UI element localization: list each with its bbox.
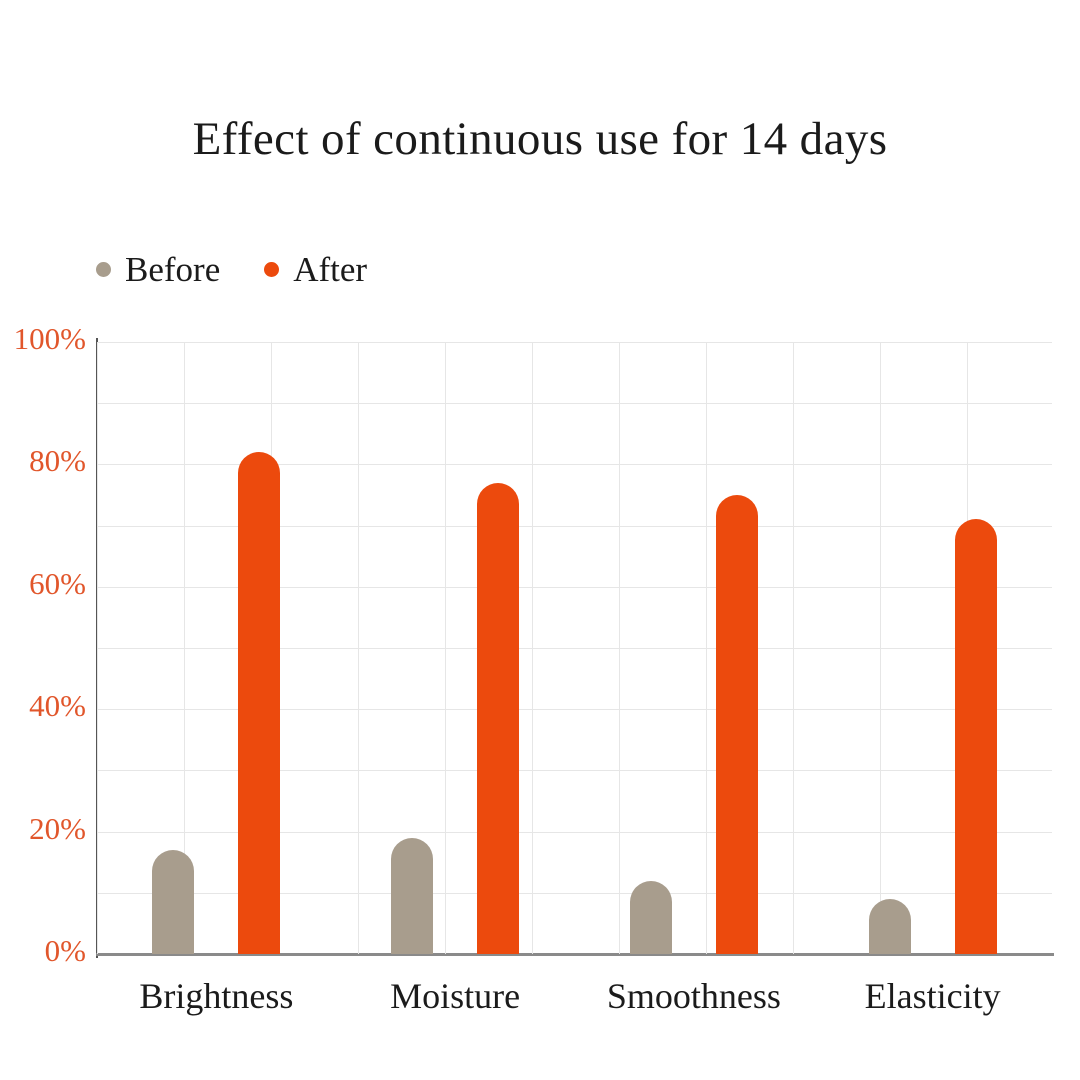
plot-area [97, 342, 1052, 954]
chart-title: Effect of continuous use for 14 days [0, 112, 1080, 166]
x-axis-tick-label-moisture: Moisture [390, 975, 520, 1017]
bar-before-smoothness[interactable] [630, 881, 672, 954]
y-axis-tick-label: 100% [0, 321, 86, 357]
gridline-vertical [358, 342, 359, 954]
legend-item-before[interactable]: Before [96, 252, 220, 287]
y-axis-tick-label: 80% [0, 443, 86, 479]
bar-after-moisture[interactable] [477, 483, 519, 954]
gridline-vertical [880, 342, 881, 954]
y-axis-tick-label: 40% [0, 688, 86, 724]
bar-after-elasticity[interactable] [955, 519, 997, 954]
chart-container: Effect of continuous use for 14 days Bef… [0, 0, 1080, 1080]
bar-before-moisture[interactable] [391, 838, 433, 954]
y-axis-tick-label: 0% [0, 933, 86, 969]
legend-item-after[interactable]: After [264, 252, 367, 287]
y-axis-tick-label: 60% [0, 566, 86, 602]
y-axis-tick-label: 20% [0, 811, 86, 847]
gridline-vertical [532, 342, 533, 954]
x-axis-tick-label-elasticity: Elasticity [865, 975, 1001, 1017]
gridline-horizontal [97, 403, 1052, 404]
x-axis-tick-labels: BrightnessMoistureSmoothnessElasticity [97, 975, 1052, 1045]
bar-after-smoothness[interactable] [716, 495, 758, 954]
gridline-vertical [445, 342, 446, 954]
gridline-vertical [619, 342, 620, 954]
gridline-horizontal [97, 342, 1052, 343]
legend-dot-after-icon [264, 262, 279, 277]
gridline-vertical [793, 342, 794, 954]
legend-label-after: After [293, 252, 367, 287]
chart-legend: Before After [96, 252, 367, 287]
x-axis-tick-label-smoothness: Smoothness [607, 975, 781, 1017]
bar-before-brightness[interactable] [152, 850, 194, 954]
x-axis-tick-label-brightness: Brightness [139, 975, 293, 1017]
legend-dot-before-icon [96, 262, 111, 277]
gridline-vertical [97, 342, 98, 954]
bar-after-brightness[interactable] [238, 452, 280, 954]
gridline-vertical [706, 342, 707, 954]
bar-before-elasticity[interactable] [869, 899, 911, 954]
legend-label-before: Before [125, 252, 220, 287]
